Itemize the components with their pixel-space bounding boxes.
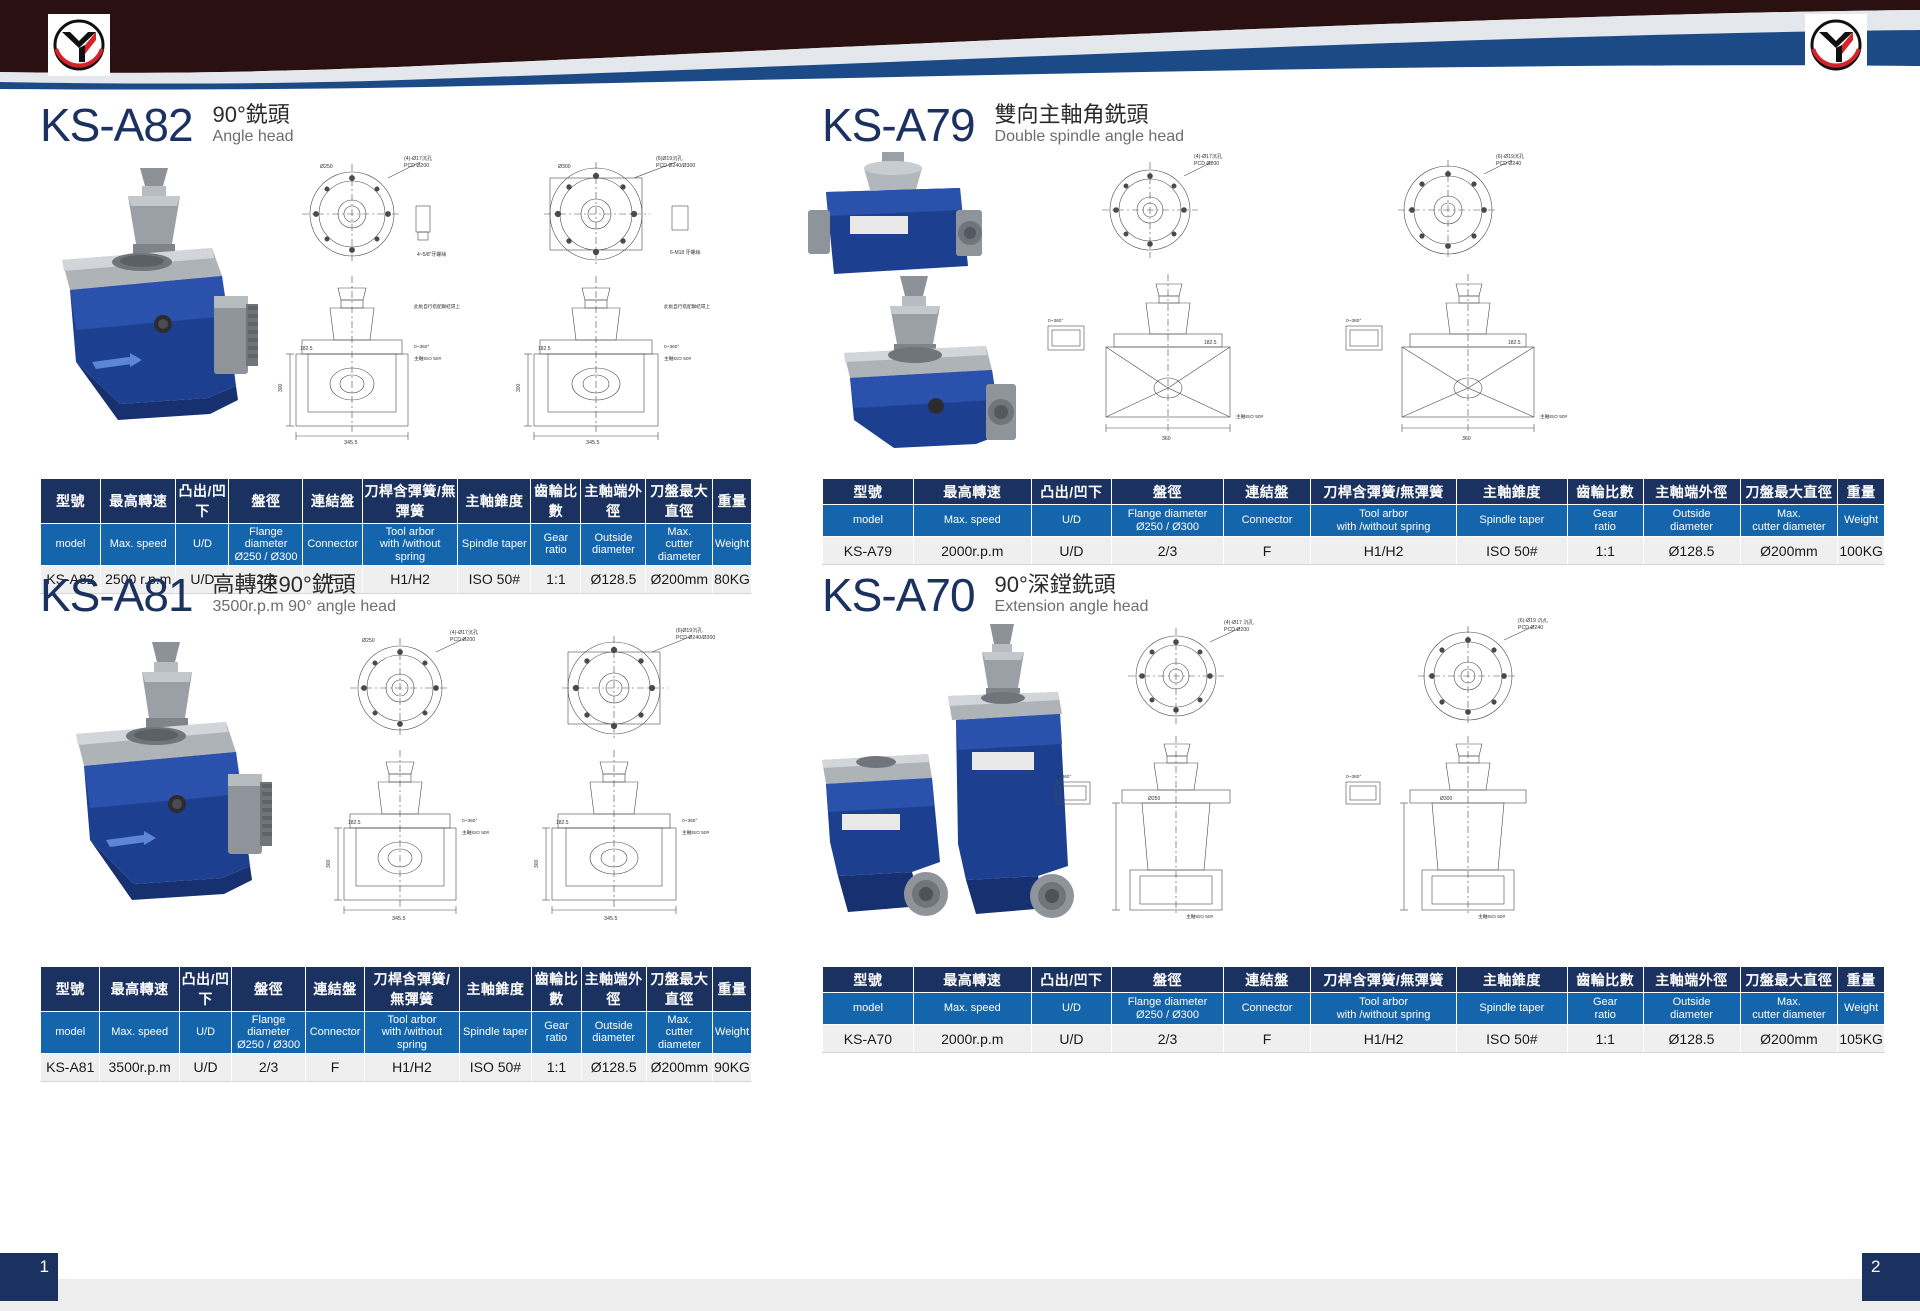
drawing-label-pcd-2: PCD Ø240/Ø300 (676, 635, 715, 641)
th-en-max-cutter: Max. cutter diameter (1740, 993, 1838, 1025)
drawing-note-rotation-2: 0~360° (664, 344, 679, 350)
th-cn-outside-dia: 主軸端外徑 (581, 479, 646, 524)
drawing-dim-a2: 345.5 (604, 916, 618, 922)
th-en-max-speed: Max. speed (913, 505, 1031, 537)
th-cn-connector: 連結盤 (303, 479, 363, 524)
drawing-section-view-b (524, 276, 658, 440)
drawing-flange-front-view-b (1398, 160, 1512, 260)
drawing-label-dim: Ø250 (362, 638, 375, 644)
cell-outside-dia: Ø128.5 (1643, 1025, 1740, 1053)
drawing-dim-label-2: Ø300 (1440, 796, 1452, 802)
drawing-section-view-b (542, 750, 676, 914)
drawing-dim-label-2: 300 (516, 383, 522, 392)
th-cn-ud: 凸出/凹下 (1031, 967, 1112, 993)
company-logo-icon-2 (1809, 18, 1863, 72)
drawing-section-view-a (334, 750, 456, 914)
th-en-ud: U/D (1031, 505, 1112, 537)
drawing-note-iso-2: 主軸ISO 50# (682, 829, 710, 836)
drawing-note-cn: 此板自行搭配聯結環上 (414, 303, 460, 310)
th-cn-weight: 重量 (713, 479, 752, 524)
drawing-dim-b: 182.5 (348, 820, 361, 826)
cell-model: KS-A70 (823, 1025, 914, 1053)
th-cn-max-speed: 最高轉速 (100, 479, 176, 524)
product-model-name: KS-A70 (822, 572, 975, 618)
product-illustration-ks-a81: Ø250 (4)-Ø17沉孔 PCD Ø200 (0, 618, 790, 928)
th-cn-gear-ratio: 齒輪比數 (1567, 967, 1643, 993)
spec-table-wrapper-ks-a79: 型號 最高轉速 凸出/凹下 盤徑 連結盤 刀桿含彈簧/無彈簧 主軸錐度 齒輪比數… (822, 478, 1885, 565)
cell-ud: U/D (179, 1053, 232, 1081)
drawing-label-bolt-1: (4)-Ø17沉孔 (450, 628, 479, 636)
spec-table-wrapper-ks-a70: 型號 最高轉速 凸出/凹下 盤徑 連結盤 刀桿含彈簧/無彈簧 主軸錐度 齒輪比數… (822, 966, 1885, 1053)
drawing-note-rotation: 0~360° (414, 344, 429, 350)
table-header-cn-row: 型號 最高轉速 凸出/凹下 盤徑 連結盤 刀桿含彈簧/無彈簧 主軸錐度 齒輪比數… (41, 479, 752, 524)
drawing-dim-b2: 182.5 (1508, 340, 1521, 346)
angle-head-photo-and-drawings: Ø250 (4)-Ø17沉孔 PCD Ø200 4~5/8"牙螺絲 (0, 148, 790, 448)
drawing-section-view-b (1346, 274, 1534, 434)
th-cn-spindle-taper: 主軸錐度 (458, 479, 531, 524)
th-cn-connector: 連結盤 (1223, 479, 1311, 505)
product-illustration-ks-a82: Ø250 (4)-Ø17沉孔 PCD Ø200 4~5/8"牙螺絲 (0, 148, 790, 448)
drawing-dim-label-2: 300 (534, 859, 540, 868)
product-desc-en: Extension angle head (995, 597, 1149, 616)
cell-tool-arbor: H1/H2 (1311, 1025, 1457, 1053)
drawing-label-bolt-1: (4)-Ø17 沉孔 (1224, 618, 1255, 626)
product-description: 90°銑頭 Angle head (213, 102, 294, 148)
th-cn-weight: 重量 (713, 967, 752, 1012)
product-illustration-ks-a70: (4)-Ø17 沉孔 PCD Ø200 (790, 618, 1920, 928)
drawing-note-rotation-2: 0~360° (682, 818, 697, 824)
company-logo-left (48, 14, 110, 76)
th-cn-ud: 凸出/凹下 (1031, 479, 1112, 505)
th-en-max-cutter: Max. cutter diameter (1740, 505, 1838, 537)
drawing-dim-a2: 360 (1462, 436, 1471, 442)
drawing-flange-front-view-b (562, 636, 692, 740)
cell-connector: F (1223, 1025, 1311, 1053)
th-cn-flange: 盤徑 (1112, 967, 1223, 993)
drawing-dim-label: 300 (326, 859, 332, 868)
table-header-cn-row: 型號 最高轉速 凸出/凹下 盤徑 連結盤 刀桿含彈簧/無彈簧 主軸錐度 齒輪比數… (823, 967, 1885, 993)
th-cn-max-cutter: 刀盤最大直徑 (646, 967, 713, 1012)
drawing-label-bolt-spec: 4~5/8"牙螺絲 (417, 251, 446, 258)
th-en-weight: Weight (1838, 505, 1885, 537)
th-en-spindle-taper: Spindle taper (1456, 993, 1567, 1025)
th-en-tool-arbor: Tool arbor with /without spring (365, 1012, 459, 1054)
table-header-cn-row: 型號 最高轉速 凸出/凹下 盤徑 連結盤 刀桿含彈簧/無彈簧 主軸錐度 齒輪比數… (823, 479, 1885, 505)
cell-connector: F (305, 1053, 364, 1081)
drawing-note-iso: 主軸ISO 50# (1186, 913, 1214, 920)
drawing-label-bolt-2: (6)-Ø19沉孔 (1496, 152, 1525, 160)
drawing-section-view-b (1346, 736, 1526, 914)
drawing-label: Ø250 (320, 164, 333, 170)
th-cn-flange: 盤徑 (232, 967, 305, 1012)
th-en-max-cutter: Max. cutter diameter (646, 1012, 713, 1054)
th-cn-model: 型號 (823, 479, 914, 505)
cell-flange: 2/3 (232, 1053, 305, 1081)
product-desc-cn: 90°銑頭 (213, 102, 294, 127)
th-cn-outside-dia: 主軸端外徑 (1643, 967, 1740, 993)
product-description: 高轉速90°銑頭 3500r.p.m 90° angle head (213, 572, 396, 618)
cell-max-cutter: Ø200mm (646, 1053, 713, 1081)
drawing-section-view-a (1048, 274, 1230, 434)
th-cn-tool-arbor: 刀桿含彈簧/無彈簧 (1311, 479, 1457, 505)
th-cn-weight: 重量 (1838, 479, 1885, 505)
th-en-max-speed: Max. speed (100, 1012, 179, 1054)
th-cn-spindle-taper: 主軸錐度 (1456, 479, 1567, 505)
th-cn-flange: 盤徑 (229, 479, 303, 524)
th-en-gear-ratio: Gear ratio (532, 1012, 582, 1054)
th-cn-weight: 重量 (1838, 967, 1885, 993)
th-en-flange: Flange diameter Ø250 / Ø300 (232, 1012, 305, 1054)
drawing-dim-a: 345.5 (344, 440, 358, 446)
product-desc-cn: 90°深鏜銑頭 (995, 572, 1149, 597)
th-cn-max-cutter: 刀盤最大直徑 (1740, 479, 1838, 505)
th-en-ud: U/D (179, 1012, 232, 1054)
th-cn-outside-dia: 主軸端外徑 (581, 967, 646, 1012)
th-cn-ud: 凸出/凹下 (176, 479, 229, 524)
th-en-connector: Connector (305, 1012, 364, 1054)
drawing-dim-a: 345.5 (392, 916, 406, 922)
drawing-note-rotation: 0~360° (1056, 774, 1071, 780)
product-photo (62, 168, 258, 420)
product-desc-cn: 雙向主軸角銑頭 (995, 102, 1184, 127)
th-en-weight: Weight (1838, 993, 1885, 1025)
th-en-tool-arbor: Tool arbor with /without spring (1311, 505, 1457, 537)
table-header-en-row: model Max. speed U/D Flange diameter Ø25… (823, 993, 1885, 1025)
product-block-ks-a79: KS-A79 雙向主軸角銑頭 Double spindle angle head (790, 86, 1920, 448)
drawing-dim-b: 182.5 (1204, 340, 1217, 346)
th-en-outside-dia: Outside diameter (581, 1012, 646, 1054)
drawing-section-view-a (1056, 736, 1230, 914)
cell-spindle-taper: ISO 50# (1456, 1025, 1567, 1053)
table-row: KS-A81 3500r.p.m U/D 2/3 F H1/H2 ISO 50#… (41, 1053, 752, 1081)
th-cn-tool-arbor: 刀桿含彈簧/無彈簧 (363, 479, 458, 524)
drawing-label-pcd-2: PCD Ø240/Ø300 (656, 163, 695, 169)
th-cn-model: 型號 (41, 479, 101, 524)
drawing-label-pcd-2: PCD Ø240 (1518, 625, 1543, 631)
cell-max-cutter: Ø200mm (1740, 1025, 1838, 1053)
spec-table-ks-a70: 型號 最高轉速 凸出/凹下 盤徑 連結盤 刀桿含彈簧/無彈簧 主軸錐度 齒輪比數… (822, 966, 1885, 1053)
company-logo-icon (52, 18, 106, 72)
th-cn-max-speed: 最高轉速 (913, 479, 1031, 505)
table-row: KS-A70 2000r.p.m U/D 2/3 F H1/H2 ISO 50#… (823, 1025, 1885, 1053)
th-en-flange: Flange diameter Ø250 / Ø300 (1112, 505, 1223, 537)
product-photo (76, 642, 272, 900)
drawing-label-pcd-1: PCD Ø200 (404, 163, 429, 169)
th-en-model: model (41, 1012, 100, 1054)
cell-gear-ratio: 1:1 (532, 1053, 582, 1081)
spec-table-ks-a81: 型號 最高轉速 凸出/凹下 盤徑 連結盤 刀桿含彈簧/無彈簧 主軸錐度 齒輪比數… (40, 966, 752, 1082)
cell-model: KS-A81 (41, 1053, 100, 1081)
drawing-note-iso: 主軸ISO 50# (462, 829, 490, 836)
drawing-note-iso: 主軸ISO 50# (414, 355, 442, 362)
drawing-note-rotation-2: 0~360° (1346, 318, 1361, 324)
page-number-right: 2 (1862, 1253, 1920, 1301)
drawing-dim-b2: 182.5 (556, 820, 569, 826)
drawing-flange-front-view-a (1102, 162, 1212, 258)
drawing-label: Ø300 (558, 164, 571, 170)
product-desc-en: Angle head (213, 127, 294, 146)
th-en-connector: Connector (1223, 993, 1311, 1025)
drawing-note-rotation: 0~360° (1048, 318, 1063, 324)
cell-outside-dia: Ø128.5 (581, 1053, 646, 1081)
extension-angle-head-photo-and-drawings: (4)-Ø17 沉孔 PCD Ø200 (790, 618, 1920, 928)
banner-graphic (0, 0, 1920, 90)
drawing-note-cn-2: 此板自行搭配聯結環上 (664, 303, 710, 310)
drawing-label-pcd-1: PCD Ø200 (1194, 161, 1219, 167)
drawing-label-pcd-1: PCD Ø200 (450, 637, 475, 643)
th-en-gear-ratio: Gear ratio (1567, 993, 1643, 1025)
th-en-gear-ratio: Gear ratio (1567, 505, 1643, 537)
drawing-note-rotation: 0~360° (462, 818, 477, 824)
drawing-label-bolt-1: (4)-Ø17沉孔 (1194, 152, 1223, 160)
th-cn-outside-dia: 主軸端外徑 (1643, 479, 1740, 505)
th-cn-ud: 凸出/凹下 (179, 967, 232, 1012)
product-desc-en: 3500r.p.m 90° angle head (213, 597, 396, 616)
th-cn-gear-ratio: 齒輪比數 (531, 479, 581, 524)
drawing-flange-front-view-b (544, 162, 688, 266)
product-illustration-ks-a79: (4)-Ø17沉孔 PCD Ø200 (790, 148, 1920, 448)
th-cn-tool-arbor: 刀桿含彈簧/無彈簧 (365, 967, 459, 1012)
product-description: 90°深鏜銑頭 Extension angle head (995, 572, 1149, 618)
product-description: 雙向主軸角銑頭 Double spindle angle head (995, 102, 1184, 148)
table-header-en-row: model Max. speed U/D Flange diameter Ø25… (823, 505, 1885, 537)
th-en-connector: Connector (1223, 505, 1311, 537)
th-en-outside-dia: Outside diameter (1643, 505, 1740, 537)
drawing-flange-front-view-a (350, 638, 466, 738)
th-cn-spindle-taper: 主軸錐度 (1456, 967, 1567, 993)
drawing-section-view-a (286, 276, 408, 440)
product-block-ks-a70: KS-A70 90°深鏜銑頭 Extension angle head (790, 556, 1920, 928)
product-title-row: KS-A70 90°深鏜銑頭 Extension angle head (790, 556, 1920, 618)
product-title-row: KS-A79 雙向主軸角銑頭 Double spindle angle head (790, 86, 1920, 148)
cell-weight: 90KG (713, 1053, 752, 1081)
table-header-en-row: model Max. speed U/D Flange diameter Ø25… (41, 1012, 752, 1054)
double-spindle-photo-and-drawings: (4)-Ø17沉孔 PCD Ø200 (790, 148, 1920, 448)
page-number-left: 1 (0, 1253, 58, 1301)
cell-flange: 2/3 (1112, 1025, 1223, 1053)
cell-max-speed: 2000r.p.m (913, 1025, 1031, 1053)
th-cn-model: 型號 (823, 967, 914, 993)
cell-spindle-taper: ISO 50# (459, 1053, 532, 1081)
spec-table-ks-a79: 型號 最高轉速 凸出/凹下 盤徑 連結盤 刀桿含彈簧/無彈簧 主軸錐度 齒輪比數… (822, 478, 1885, 565)
product-block-ks-a82: KS-A82 90°銑頭 Angle head (0, 86, 790, 448)
drawing-dim-b: 182.5 (300, 346, 313, 352)
cell-tool-arbor: H1/H2 (365, 1053, 459, 1081)
drawing-note-rotation-2: 0~360° (1346, 774, 1361, 780)
th-en-ud: U/D (1031, 993, 1112, 1025)
header-banner (0, 0, 1920, 90)
th-cn-connector: 連結盤 (305, 967, 364, 1012)
th-cn-max-cutter: 刀盤最大直徑 (646, 479, 713, 524)
product-title-row: KS-A82 90°銑頭 Angle head (0, 86, 790, 148)
product-photo (808, 152, 1016, 448)
catalog-page: KS-A82 90°銑頭 Angle head (0, 0, 1920, 1311)
cell-ud: U/D (1031, 1025, 1112, 1053)
drawing-label-bolt-spec-2: 6-M18 牙螺絲 (670, 249, 701, 256)
company-logo-right (1805, 14, 1867, 76)
footer-bar (0, 1279, 1920, 1311)
product-title-row: KS-A81 高轉速90°銑頭 3500r.p.m 90° angle head (0, 556, 790, 618)
th-cn-gear-ratio: 齒輪比數 (1567, 479, 1643, 505)
th-cn-max-cutter: 刀盤最大直徑 (1740, 967, 1838, 993)
th-cn-connector: 連結盤 (1223, 967, 1311, 993)
th-cn-tool-arbor: 刀桿含彈簧/無彈簧 (1311, 967, 1457, 993)
th-en-outside-dia: Outside diameter (1643, 993, 1740, 1025)
drawing-label-bolt-2: (6)-Ø19 沉孔 (1518, 618, 1549, 624)
th-en-model: model (823, 505, 914, 537)
th-cn-max-speed: 最高轉速 (913, 967, 1031, 993)
drawing-dim-b2: 182.5 (538, 346, 551, 352)
drawing-dim-label: 300 (278, 383, 284, 392)
product-model-name: KS-A82 (40, 102, 193, 148)
product-desc-en: Double spindle angle head (995, 127, 1184, 146)
drawing-label-bolt-2: (6)Ø19沉孔 (656, 154, 683, 162)
th-en-tool-arbor: Tool arbor with /without spring (1311, 993, 1457, 1025)
cell-weight: 105KG (1838, 1025, 1885, 1053)
drawing-flange-front-view-a (302, 162, 430, 264)
drawing-flange-front-view-a (1128, 628, 1240, 724)
product-model-name: KS-A81 (40, 572, 193, 618)
th-cn-spindle-taper: 主軸錐度 (459, 967, 532, 1012)
spec-table-wrapper-ks-a81: 型號 最高轉速 凸出/凹下 盤徑 連結盤 刀桿含彈簧/無彈簧 主軸錐度 齒輪比數… (40, 966, 752, 1082)
drawing-flange-front-view-b (1418, 626, 1534, 726)
table-header-cn-row: 型號 最高轉速 凸出/凹下 盤徑 連結盤 刀桿含彈簧/無彈簧 主軸錐度 齒輪比數… (41, 967, 752, 1012)
th-cn-gear-ratio: 齒輪比數 (532, 967, 582, 1012)
product-photo (822, 624, 1074, 918)
drawing-label-bolt-1: (4)-Ø17沉孔 (404, 154, 433, 162)
th-en-model: model (823, 993, 914, 1025)
drawing-dim-a2: 345.5 (586, 440, 600, 446)
cell-max-speed: 3500r.p.m (100, 1053, 179, 1081)
drawing-note-iso-2: 主軸ISO 50# (1478, 913, 1506, 920)
th-en-flange: Flange diameter Ø250 / Ø300 (1112, 993, 1223, 1025)
drawing-note-iso: 主軸ISO 50# (1236, 413, 1264, 420)
drawing-dim-label: Ø250 (1148, 796, 1160, 802)
th-en-max-speed: Max. speed (913, 993, 1031, 1025)
high-speed-angle-head-photo-and-drawings: Ø250 (4)-Ø17沉孔 PCD Ø200 (0, 618, 790, 928)
th-en-spindle-taper: Spindle taper (1456, 505, 1567, 537)
th-cn-flange: 盤徑 (1112, 479, 1223, 505)
drawing-note-iso-2: 主軸ISO 50# (664, 355, 692, 362)
th-en-spindle-taper: Spindle taper (459, 1012, 532, 1054)
product-model-name: KS-A79 (822, 102, 975, 148)
th-cn-max-speed: 最高轉速 (100, 967, 179, 1012)
drawing-note-iso-2: 主軸ISO 50# (1540, 413, 1568, 420)
drawing-dim-a: 360 (1162, 436, 1171, 442)
th-cn-model: 型號 (41, 967, 100, 1012)
product-block-ks-a81: KS-A81 高轉速90°銑頭 3500r.p.m 90° angle head (0, 556, 790, 928)
drawing-label-pcd-1: PCD Ø200 (1224, 627, 1249, 633)
product-desc-cn: 高轉速90°銑頭 (213, 572, 396, 597)
th-en-weight: Weight (713, 1012, 752, 1054)
cell-gear-ratio: 1:1 (1567, 1025, 1643, 1053)
drawing-label-bolt-2: (6)Ø19沉孔 (676, 626, 703, 634)
drawing-label-pcd-2: PCD Ø240 (1496, 161, 1521, 167)
page-footer: 1 2 (0, 1253, 1920, 1311)
